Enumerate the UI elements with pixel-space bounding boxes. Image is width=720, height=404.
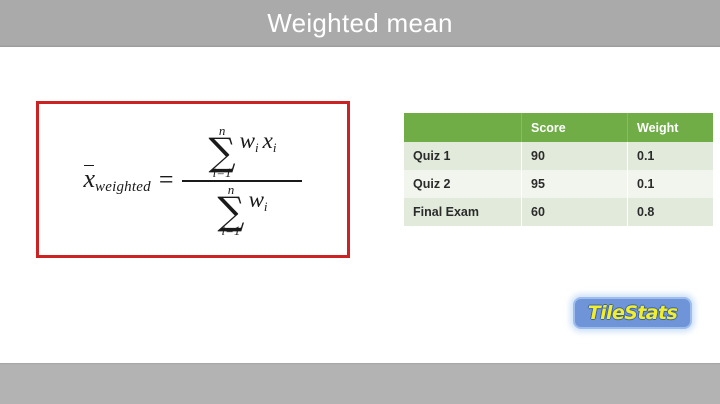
cell-row-label: Quiz 2 <box>404 170 522 198</box>
numerator-term-w: wi <box>240 124 259 156</box>
denominator-summation: n ∑ i=1 wi <box>217 183 267 238</box>
numerator-lower-limit: i=1 <box>213 166 232 179</box>
cell-score: 90 <box>522 142 628 170</box>
denominator-term-w-symbol: w <box>249 187 264 212</box>
numerator-term-x: xi <box>263 124 277 156</box>
table-row: Final Exam 60 0.8 <box>404 198 713 226</box>
table-row: Quiz 1 90 0.1 <box>404 142 713 170</box>
formula-box: x weighted = n ∑ i=1 wi xi <box>36 101 350 258</box>
formula-lhs-symbol: x <box>84 164 96 193</box>
formula-lhs-subscript: weighted <box>95 179 151 195</box>
slide-canvas: Weighted mean x weighted = n ∑ i=1 <box>0 0 720 404</box>
cell-row-label: Quiz 1 <box>404 142 522 170</box>
page-title: Weighted mean <box>0 0 720 47</box>
column-header-score: Score <box>522 113 628 142</box>
cell-weight: 0.1 <box>628 142 714 170</box>
cell-weight: 0.8 <box>628 198 714 226</box>
formula-left-hand-side: x weighted <box>84 164 153 196</box>
cell-weight: 0.1 <box>628 170 714 198</box>
numerator-term-x-symbol: x <box>263 128 273 153</box>
slide-footer-bar <box>0 363 720 404</box>
cell-score: 60 <box>522 198 628 226</box>
table-header: Score Weight <box>404 113 713 142</box>
fraction-denominator: n ∑ i=1 wi <box>211 182 273 239</box>
denominator-sigma-stack: n ∑ i=1 <box>217 183 244 238</box>
logo-text: TileStats <box>588 302 677 324</box>
table-row: Quiz 2 95 0.1 <box>404 170 713 198</box>
numerator-term-x-index: i <box>273 140 277 155</box>
tilestats-logo: TileStats <box>573 297 692 329</box>
fraction: n ∑ i=1 wi xi n ∑ i=1 <box>182 123 302 239</box>
column-header-blank <box>404 113 522 142</box>
table-header-row: Score Weight <box>404 113 713 142</box>
denominator-term-w-index: i <box>264 199 268 214</box>
overline-bar <box>84 165 95 167</box>
score-weight-table: Score Weight Quiz 1 90 0.1 Quiz 2 95 0.1… <box>404 113 713 226</box>
fraction-numerator: n ∑ i=1 wi xi <box>203 123 283 180</box>
cell-score: 95 <box>522 170 628 198</box>
numerator-summation: n ∑ i=1 wi xi <box>209 124 277 179</box>
cell-row-label: Final Exam <box>404 198 522 226</box>
slide-header-bar: Weighted mean <box>0 0 720 47</box>
column-header-weight: Weight <box>628 113 714 142</box>
equals-sign: = <box>153 165 183 195</box>
denominator-term-w: wi <box>249 183 268 215</box>
numerator-term-w-index: i <box>255 140 259 155</box>
denominator-lower-limit: i=1 <box>222 224 241 237</box>
numerator-sigma-stack: n ∑ i=1 <box>209 124 236 179</box>
numerator-term-w-symbol: w <box>240 128 255 153</box>
weighted-mean-formula: x weighted = n ∑ i=1 wi xi <box>39 104 347 255</box>
x-bar-symbol: x <box>84 164 96 194</box>
table-body: Quiz 1 90 0.1 Quiz 2 95 0.1 Final Exam 6… <box>404 142 713 226</box>
